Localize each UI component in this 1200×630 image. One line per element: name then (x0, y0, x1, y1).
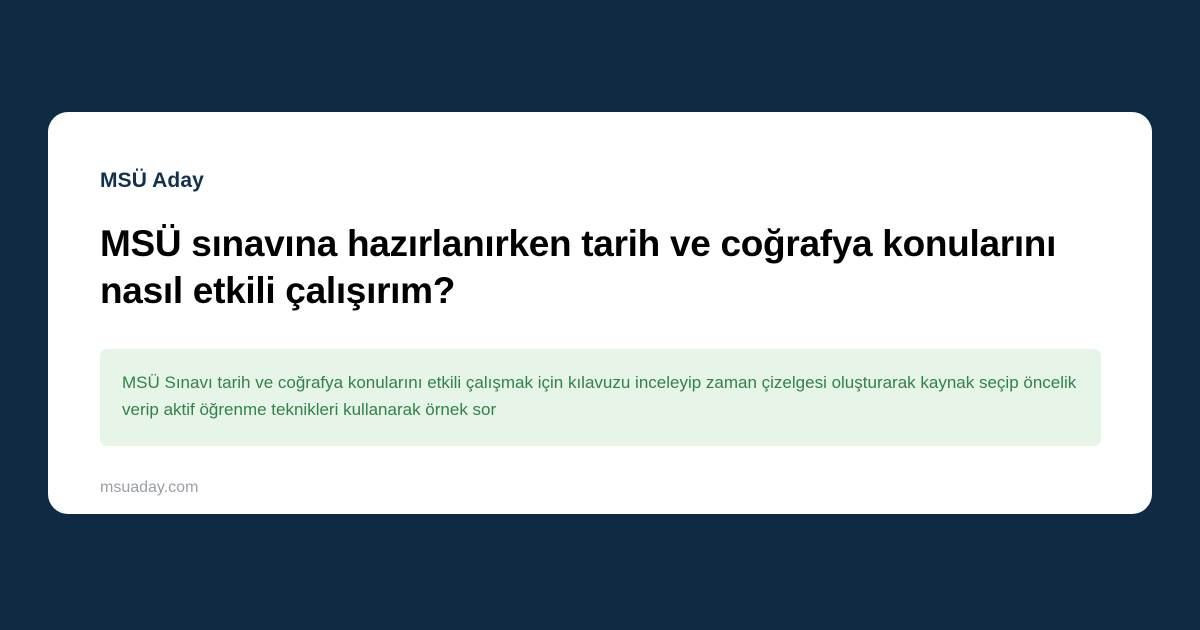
summary-box: MSÜ Sınavı tarih ve coğrafya konularını … (100, 349, 1101, 446)
summary-text: MSÜ Sınavı tarih ve coğrafya konularını … (122, 370, 1079, 424)
og-card-canvas: MSÜ Aday MSÜ sınavına hazırlanırken tari… (0, 0, 1200, 630)
page-title: MSÜ sınavına hazırlanırken tarih ve coğr… (100, 221, 1100, 315)
footer-url: msuaday.com (100, 478, 1100, 497)
content-card: MSÜ Aday MSÜ sınavına hazırlanırken tari… (48, 112, 1152, 514)
site-name: MSÜ Aday (100, 168, 1100, 193)
